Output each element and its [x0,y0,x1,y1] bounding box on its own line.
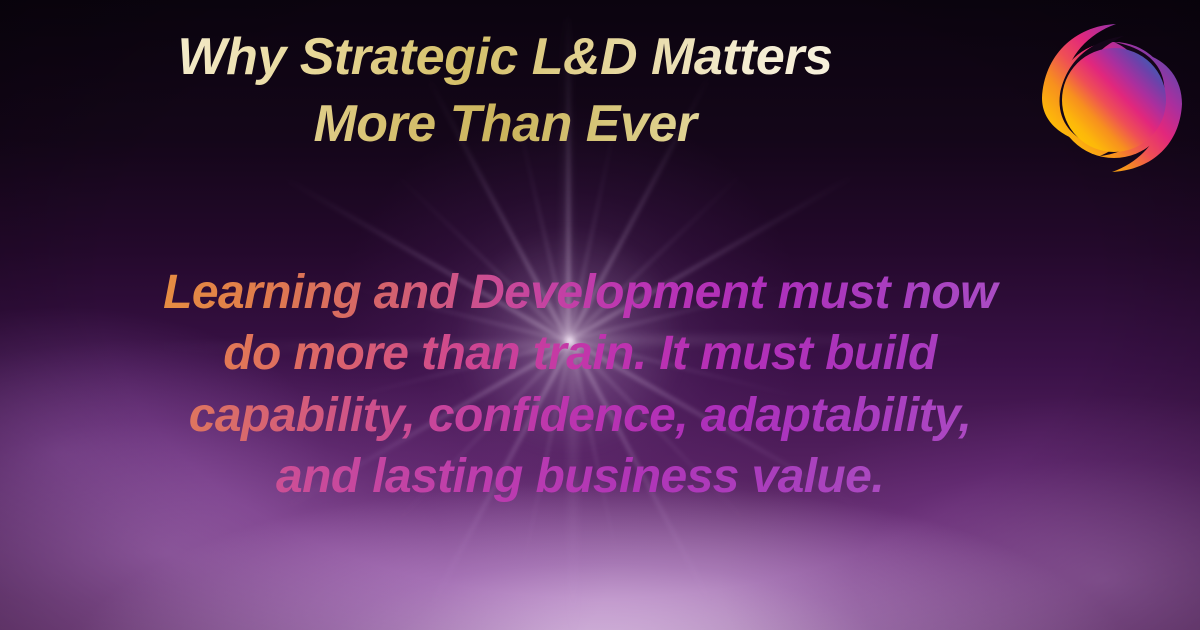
brand-swoosh-icon [1040,12,1184,172]
page-title: Why Strategic L&D Matters More Than Ever [0,24,1010,157]
body-line-3: capability, confidence, adaptability, [0,385,1160,446]
social-share-card: Why Strategic L&D Matters More Than Ever [0,0,1200,630]
body-line-2: do more than train. It must build [0,323,1160,384]
logo-core-disc [1062,48,1166,152]
brand-swoosh-logo [1040,12,1184,172]
body-line-1: Learning and Development must now [0,262,1160,323]
body-copy: Learning and Development must now do mor… [0,262,1160,508]
title-line-1: Why Strategic L&D Matters [0,24,1010,91]
title-line-2: More Than Ever [0,91,1010,158]
body-line-4: and lasting business value. [0,446,1160,507]
